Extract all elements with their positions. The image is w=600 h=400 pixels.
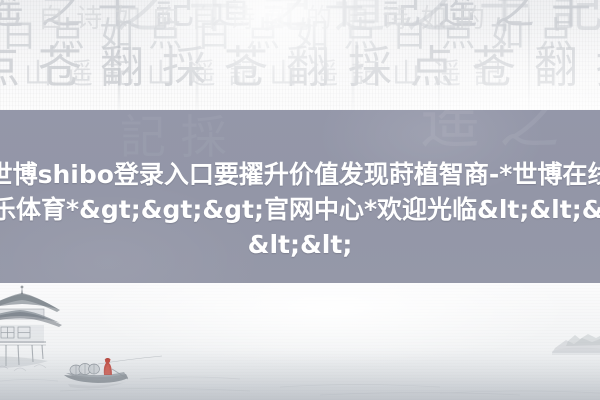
calligraphy-texture-band: 遥 之 千 記 道 之 千 記 遥 之 千 記 道 白 点 如 点 白 点 如 …: [0, 0, 600, 110]
banner-page: 遥 之 千 記 道 之 千 記 遥 之 千 記 道 白 点 如 点 白 点 如 …: [0, 0, 600, 400]
band-ghost-glyph: 記 採: [120, 114, 227, 160]
banner-title-line-1: 世博shibo登录入口要擢升价值发现莳植智商-*世博在线: [0, 160, 600, 189]
band-ghost-glyph: 遥 之: [420, 110, 559, 152]
calligraphy-glyph-layer: 遥 之 千 記 道 之 千 記 遥 之 千 記 道 白 点 如 点 白 点 如 …: [0, 0, 600, 110]
calligraphy-row: 之 千 記 道 之 千 記 道 之 千 記: [116, 0, 600, 36]
banner-title-line-3: &lt;&lt;: [248, 230, 353, 259]
calligraphy-row: 山 遥 記 山 遥 記 山 遥 記 山 遥 記: [24, 60, 504, 88]
ink-wash-scene-svg: [0, 283, 600, 400]
banner-title: 世博shibo登录入口要擢升价值发现莳植智商-*世博在线娱乐体育*&gt;&gt…: [0, 157, 600, 262]
ink-wash-artwork: [0, 283, 600, 400]
title-band: 遥 之 記 採 世博shibo登录入口要擢升价值发现莳植智商-*世博在线娱乐体育…: [0, 110, 600, 283]
banner-title-line-2: 娱乐体育*&gt;&gt;&gt;官网中心*欢迎光临&lt;&lt;&lt;: [0, 195, 600, 224]
